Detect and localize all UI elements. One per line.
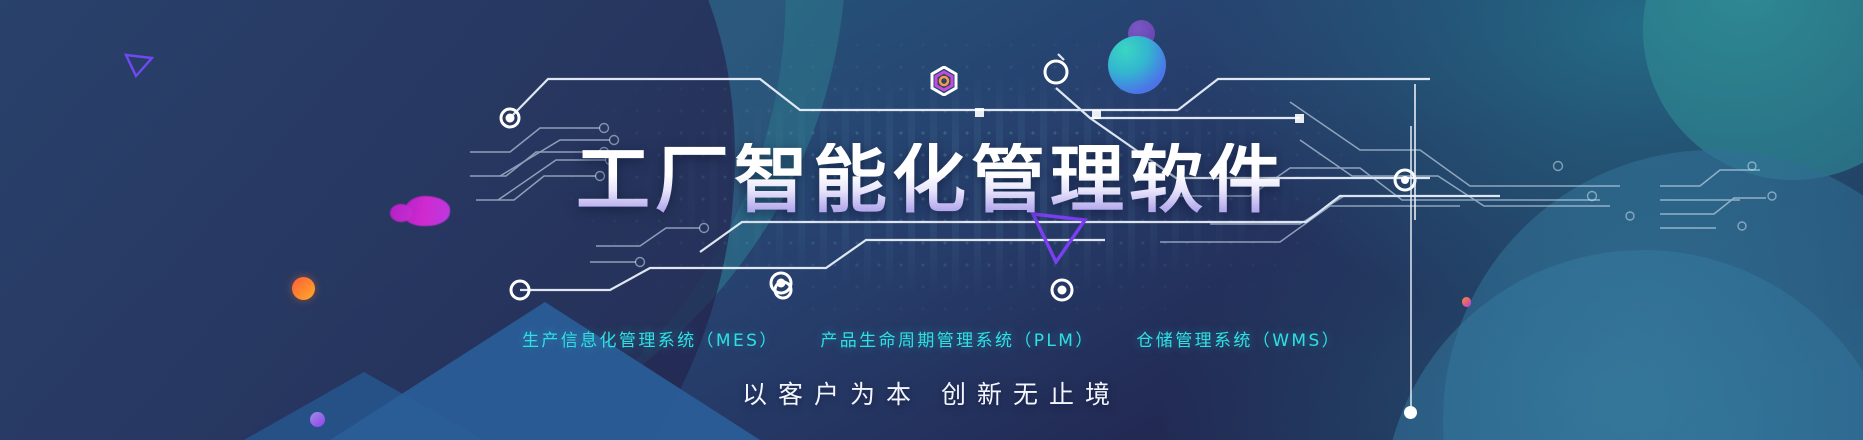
hero-banner: 工厂智能化管理软件 生产信息化管理系统（MES） 产品生命周期管理系统（PLM）…: [0, 0, 1863, 440]
banner-content: 工厂智能化管理软件 生产信息化管理系统（MES） 产品生命周期管理系统（PLM）…: [0, 0, 1863, 440]
product-plm: 产品生命周期管理系统（PLM）: [820, 331, 1094, 351]
product-wms: 仓储管理系统（WMS）: [1136, 331, 1341, 351]
product-list: 生产信息化管理系统（MES） 产品生命周期管理系统（PLM） 仓储管理系统（WM…: [0, 326, 1863, 351]
page-title: 工厂智能化管理软件: [0, 143, 1863, 217]
tagline: 以客户为本 创新无止境: [0, 375, 1863, 411]
product-mes: 生产信息化管理系统（MES）: [522, 331, 779, 351]
